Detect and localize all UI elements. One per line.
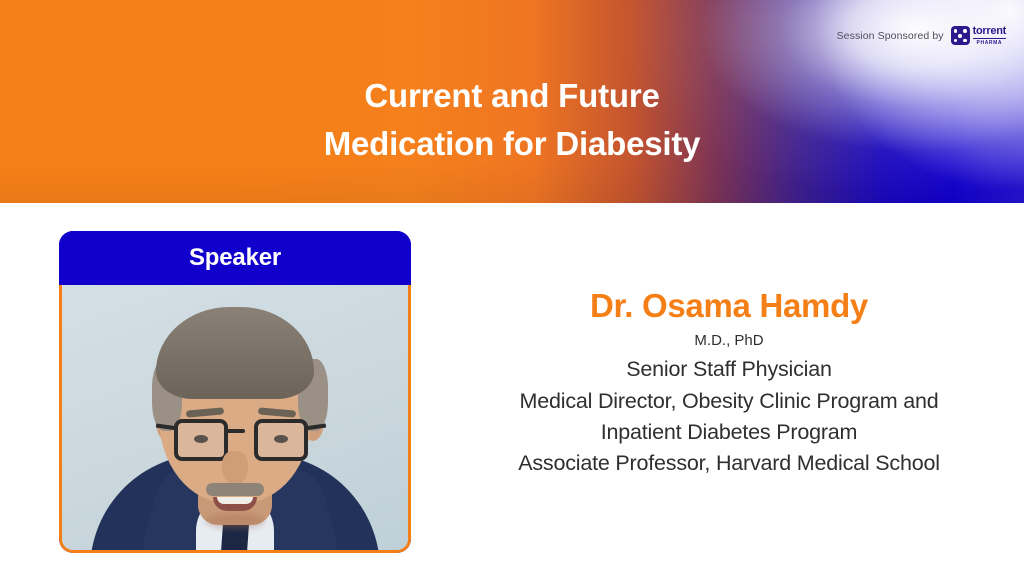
- portrait-glasses-bridge: [225, 429, 245, 433]
- torrent-logo-name: torrent: [973, 26, 1006, 39]
- sponsor-block: Session Sponsored by torrent PHARMA: [837, 26, 1006, 46]
- torrent-logo-mark-icon: [951, 26, 970, 45]
- portrait-nose: [222, 451, 248, 485]
- slide-title-line-2: Medication for Diabesity: [0, 120, 1024, 168]
- portrait-hair: [156, 307, 314, 399]
- speaker-title-line-2: Medical Director, Obesity Clinic Program…: [444, 386, 1014, 417]
- portrait-teeth: [217, 497, 253, 504]
- banner-bottom-fade: [0, 163, 1024, 203]
- speaker-portrait-image: [62, 285, 408, 550]
- torrent-pharma-logo: torrent PHARMA: [951, 26, 1006, 46]
- portrait-mustache: [206, 483, 264, 496]
- speaker-name: Dr. Osama Hamdy: [444, 287, 1014, 325]
- torrent-logo-wordmark: torrent PHARMA: [973, 26, 1006, 46]
- portrait-chin-shadow: [205, 513, 265, 529]
- speaker-title-line-4: Associate Professor, Harvard Medical Sch…: [444, 448, 1014, 479]
- speaker-card-header-label: Speaker: [189, 244, 281, 272]
- portrait-glasses-lens-left: [174, 419, 228, 461]
- speaker-info-block: Dr. Osama Hamdy M.D., PhD Senior Staff P…: [444, 287, 1014, 479]
- torrent-logo-subtitle: PHARMA: [973, 41, 1006, 46]
- speaker-card: Speaker: [59, 231, 411, 553]
- speaker-title-line-1: Senior Staff Physician: [444, 354, 1014, 385]
- sponsor-label: Session Sponsored by: [837, 30, 944, 42]
- speaker-photo-frame: [59, 285, 411, 553]
- presentation-slide: Session Sponsored by torrent PHARMA Curr…: [0, 0, 1024, 576]
- slide-title: Current and Future Medication for Diabes…: [0, 72, 1024, 168]
- portrait-glasses-lens-right: [254, 419, 308, 461]
- speaker-title-line-3: Inpatient Diabetes Program: [444, 417, 1014, 448]
- speaker-card-header: Speaker: [59, 231, 411, 285]
- slide-title-line-1: Current and Future: [0, 72, 1024, 120]
- speaker-degrees: M.D., PhD: [444, 331, 1014, 351]
